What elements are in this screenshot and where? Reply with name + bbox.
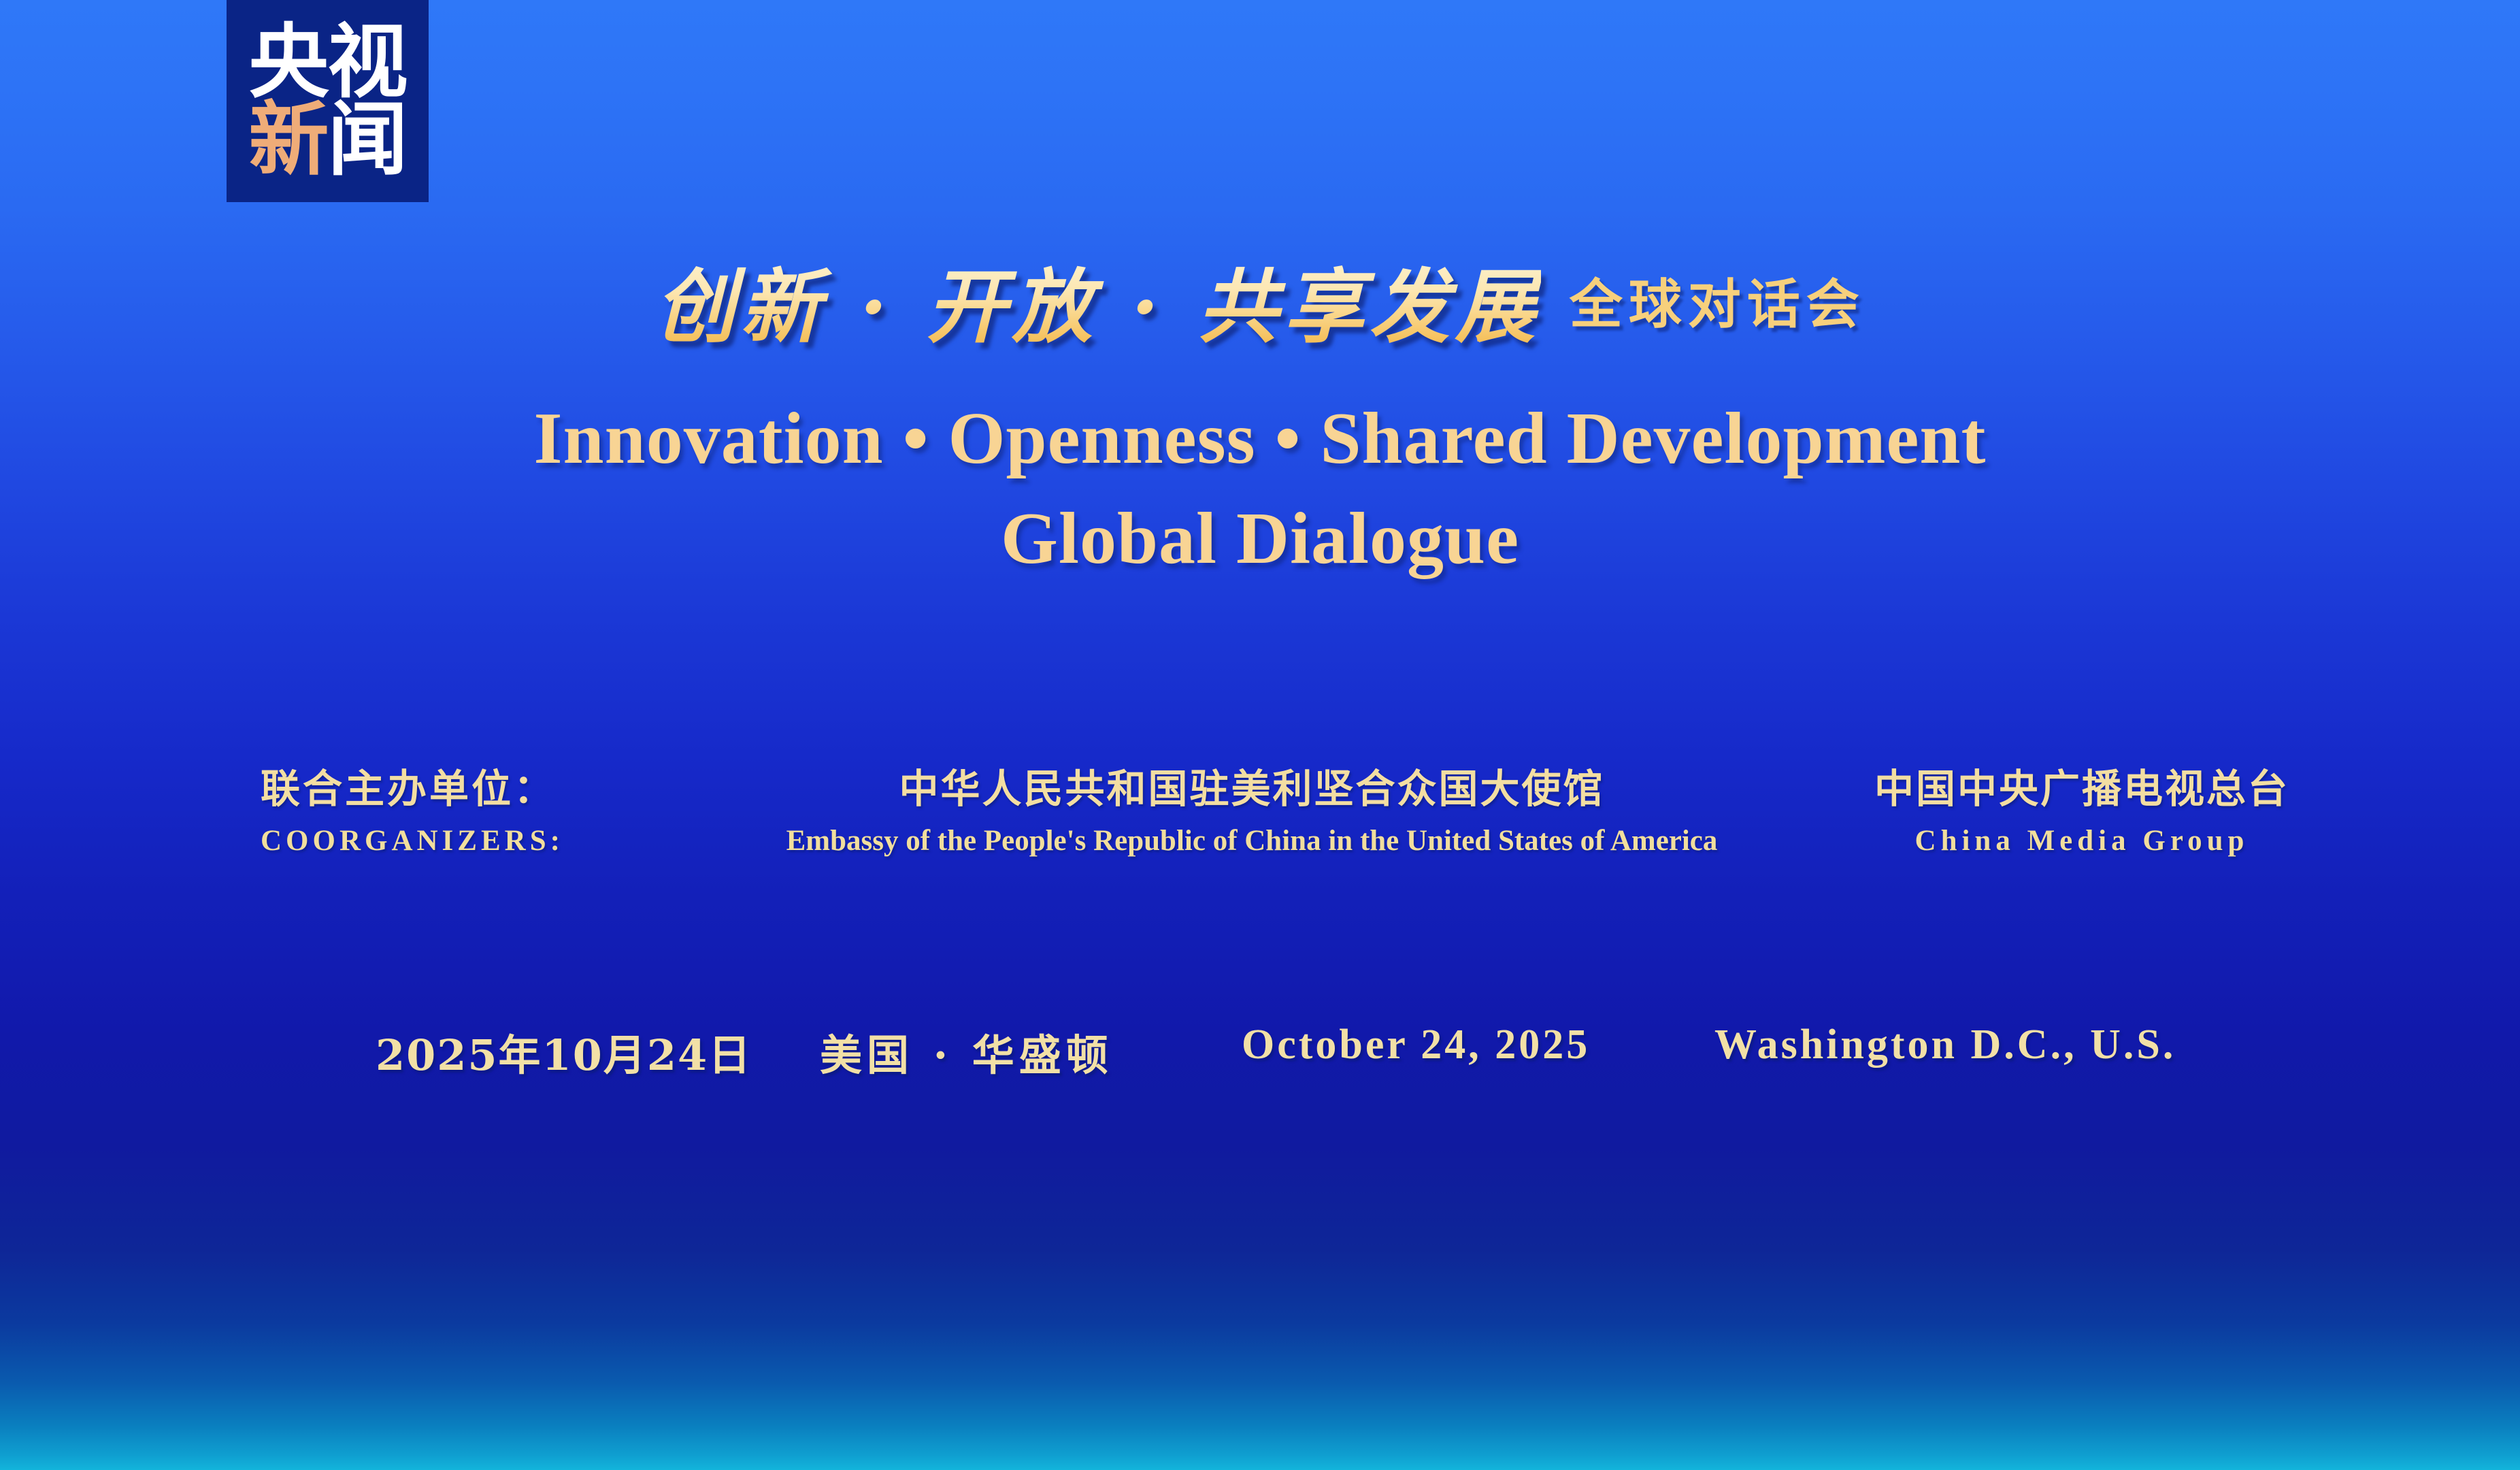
coorganizer-embassy-en: Embassy of the People's Republic of Chin… [704, 826, 1800, 855]
event-date-chinese: 2025年10月24日 [376, 1021, 752, 1082]
cctv-news-logo: 央视 新闻 [227, 0, 429, 202]
coorganizers-label: 联合主办单位： COORGANIZERS: [261, 769, 564, 855]
coorganizer-cmg-en: China Media Group [1857, 826, 2306, 855]
coorganizer-cmg-cn: 中国中央广播电视总台 [1857, 769, 2306, 808]
coorganizer-embassy-cn: 中华人民共和国驻美利坚合众国大使馆 [704, 769, 1800, 808]
event-date-location-row: 2025年10月24日 美国 · 华盛顿 October 24, 2025 Wa… [0, 1021, 2520, 1096]
coorganizer-china-media-group: 中国中央广播电视总台 China Media Group [1857, 769, 2306, 855]
logo-char-wen: 闻 [328, 93, 407, 186]
title-chinese-main: 创新 · 开放 · 共享发展 [654, 259, 1541, 354]
coorganizers-block: 联合主办单位： COORGANIZERS: 中华人民共和国驻美利坚合众国大使馆 … [0, 769, 2520, 878]
event-location-english: Washington D.C., U.S. [1714, 1021, 2176, 1069]
logo-char-xin: 新 [248, 93, 327, 186]
title-chinese-subtitle: 全球对话会 [1570, 274, 1866, 336]
coorganizers-label-en: COORGANIZERS: [261, 826, 564, 855]
title-chinese: 创新 · 开放 · 共享发展全球对话会 [0, 242, 2520, 358]
logo-text-yangshi: 央视 [248, 24, 406, 101]
event-date-english: October 24, 2025 [1242, 1021, 1590, 1069]
event-location-chinese: 美国 · 华盛顿 [820, 1021, 1113, 1082]
event-banner: 央视 新闻 创新 · 开放 · 共享发展全球对话会 Innovation • O… [0, 0, 2520, 1470]
title-english-line-1: Innovation • Openness • Shared Developme… [0, 397, 2520, 481]
logo-text-xinwen: 新闻 [248, 101, 406, 178]
title-english-line-2: Global Dialogue [0, 497, 2520, 581]
coorganizer-embassy: 中华人民共和国驻美利坚合众国大使馆 Embassy of the People'… [704, 769, 1800, 855]
coorganizers-label-cn: 联合主办单位： [261, 769, 564, 808]
